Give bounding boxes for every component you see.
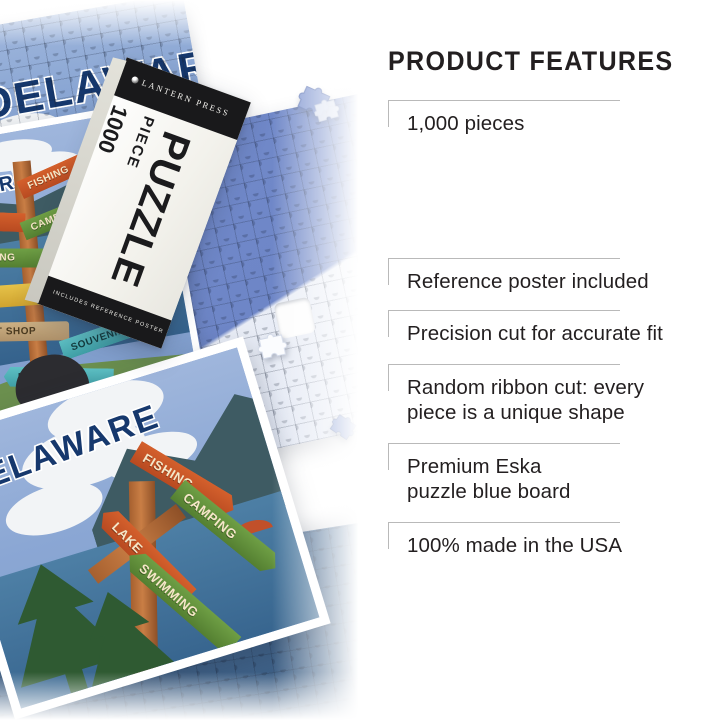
product-feature-image: DELAWARE DELAWARE FISHING <box>0 0 720 720</box>
page-title: PRODUCT FEATURES <box>388 46 673 77</box>
logo-dot-icon <box>131 75 140 84</box>
feature-text: Reference poster included <box>407 269 707 294</box>
photo-fade-overlay <box>272 0 390 720</box>
feature-tick <box>388 443 389 470</box>
product-features-panel: PRODUCT FEATURES 1,000 pieces Reference … <box>383 0 720 720</box>
product-photo-collage: DELAWARE DELAWARE FISHING <box>0 0 390 720</box>
feature-text: Premium Eska puzzle blue board <box>407 454 607 504</box>
feature-rule <box>388 522 620 523</box>
feature-rule <box>388 443 620 444</box>
feature-tick <box>388 310 389 337</box>
sign-bait-shop: BAIT SHOP <box>0 321 69 342</box>
feature-rule <box>388 310 620 311</box>
photo-fade-overlay-top <box>0 0 390 46</box>
feature-tick <box>388 258 389 285</box>
feature-text: 1,000 pieces <box>407 111 707 136</box>
feature-rule <box>388 364 620 365</box>
sign-lake: LAKE <box>0 210 26 232</box>
feature-tick <box>388 364 389 391</box>
feature-text: Random ribbon cut: every piece is a uniq… <box>407 375 659 425</box>
photo-fade-overlay-bottom <box>0 672 390 720</box>
feature-text: Precision cut for accurate fit <box>407 321 707 346</box>
feature-text: 100% made in the USA <box>407 533 707 558</box>
feature-rule <box>388 258 620 259</box>
feature-rule <box>388 100 620 101</box>
feature-tick <box>388 522 389 549</box>
feature-tick <box>388 100 389 127</box>
